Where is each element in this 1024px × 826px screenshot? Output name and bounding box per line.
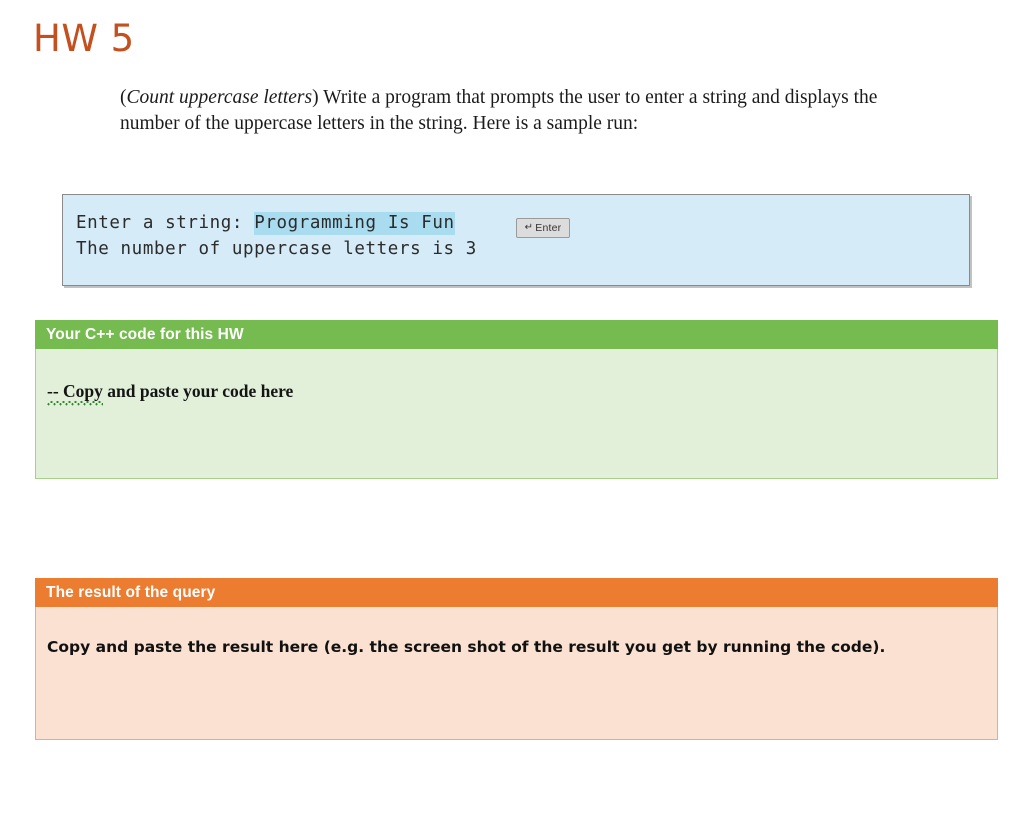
result-section-body[interactable]: Copy and paste the result here (e.g. the… — [35, 607, 998, 740]
code-section-body[interactable]: -- Copy and paste your code here — [35, 349, 998, 479]
code-section-panel: Your C++ code for this HW -- Copy and pa… — [35, 320, 998, 479]
console-prompt-label: Enter a string: — [76, 213, 254, 233]
page-title: HW 5 — [33, 17, 135, 61]
enter-key-icon: ↵Enter — [516, 218, 570, 238]
console-output-line: The number of uppercase letters is 3 — [76, 239, 477, 259]
result-section-header: The result of the query — [35, 578, 998, 607]
result-section-panel: The result of the query Copy and paste t… — [35, 578, 998, 740]
code-placeholder-misspelled: -- Copy — [47, 381, 103, 406]
return-arrow-icon: ↵ — [525, 223, 534, 233]
enter-key-label: Enter — [535, 222, 561, 234]
sample-run-console: Enter a string: Programming Is Fun The n… — [62, 194, 970, 286]
result-section-placeholder: Copy and paste the result here (e.g. the… — [36, 607, 997, 658]
problem-title-italic: Count uppercase letters — [127, 87, 313, 108]
console-input-value: Programming Is Fun — [254, 212, 454, 235]
code-section-header: Your C++ code for this HW — [35, 320, 998, 349]
problem-statement: (Count uppercase letters) Write a progra… — [120, 85, 932, 137]
code-placeholder-rest: and paste your code here — [103, 381, 293, 401]
console-prompt-line: Enter a string: Programming Is Fun — [76, 213, 455, 233]
code-section-placeholder: -- Copy and paste your code here — [36, 349, 997, 402]
